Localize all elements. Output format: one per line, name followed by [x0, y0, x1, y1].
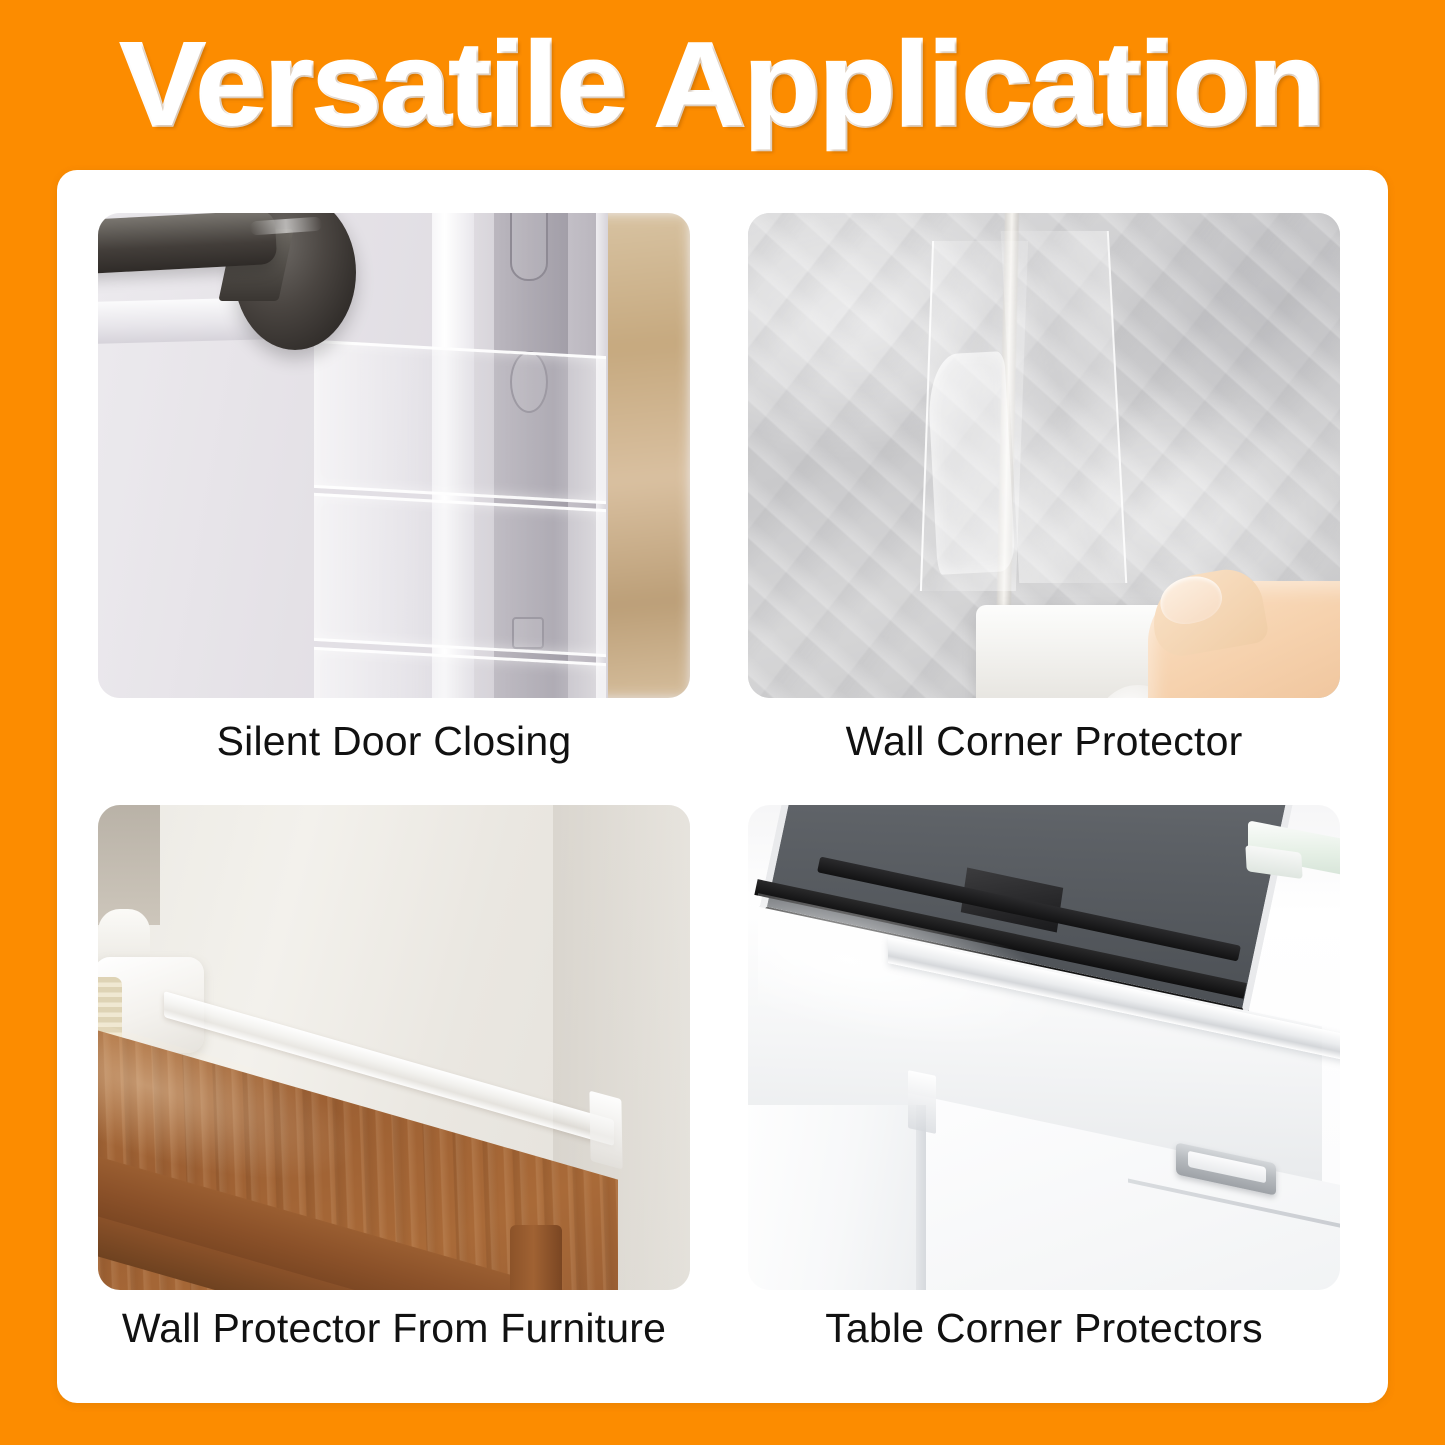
feature-grid: Silent Door Closing Wall Corner Protecto… — [98, 213, 1347, 1360]
door-corner-protector-photo — [98, 213, 690, 698]
feature-item-wall-protector-from-furniture: Wall Protector From Furniture — [98, 805, 690, 1360]
page-title: Versatile Application — [121, 26, 1324, 144]
cabinet-side-panel — [748, 1105, 922, 1290]
feature-caption: Silent Door Closing — [98, 718, 690, 765]
wall-corner-tape-photo — [748, 213, 1340, 698]
table-edge-protector-end-cap — [589, 1091, 622, 1170]
cabinet-edge-protector-end-cap — [908, 1070, 936, 1134]
cabinet-side-edge — [916, 1105, 926, 1290]
feature-card: Silent Door Closing Wall Corner Protecto… — [57, 170, 1388, 1403]
feature-caption: Wall Corner Protector — [748, 718, 1340, 765]
feature-item-silent-door-closing: Silent Door Closing — [98, 213, 690, 805]
feature-caption: Wall Protector From Furniture — [98, 1305, 690, 1352]
feature-caption: Table Corner Protectors — [748, 1305, 1340, 1352]
wooden-table-edge-protector-photo — [98, 805, 690, 1290]
clear-tape-peel — [926, 351, 1015, 575]
wall-upper-left-shade — [98, 805, 160, 925]
feature-item-wall-corner-protector: Wall Corner Protector — [748, 213, 1340, 805]
header-banner: Versatile Application — [0, 0, 1445, 170]
table-leg — [510, 1225, 562, 1290]
white-cabinet-edge-protector-photo — [748, 805, 1340, 1290]
feature-item-table-corner-protectors: Table Corner Protectors — [748, 805, 1340, 1360]
strike-plate-slot-icon — [510, 213, 548, 281]
door-handle-lever — [98, 213, 277, 274]
clear-tape-right-face — [1001, 231, 1127, 583]
corner-protector-strip-upper — [314, 340, 606, 504]
corner-protector-strip-middle — [314, 493, 606, 657]
